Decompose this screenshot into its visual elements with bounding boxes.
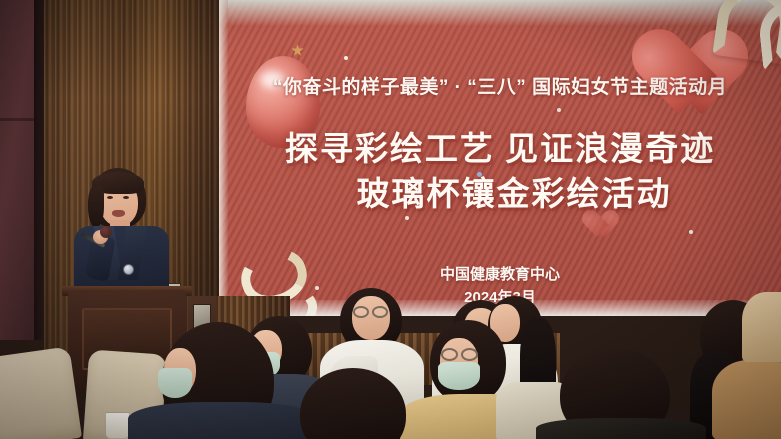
- attendee-face: [352, 296, 390, 340]
- banner-organization: 中国健康教育中心: [219, 264, 781, 287]
- left-wall-panel: [0, 0, 36, 340]
- microphone-icon: [100, 226, 112, 238]
- event-banner-screen: “你奋斗的样子最美” · “三八” 国际妇女节主题活动月 探寻彩绘工艺 见证浪漫…: [219, 0, 781, 316]
- glasses-icon: [353, 306, 369, 318]
- banner-left-frame: [219, 0, 228, 316]
- attendee-torso: [128, 402, 318, 439]
- chair-back-left: [0, 346, 82, 439]
- face-mask-icon: [158, 368, 192, 398]
- attendee-torso: [712, 360, 781, 439]
- glasses-icon: [461, 348, 478, 361]
- attendee-torso: [536, 418, 706, 439]
- deco-dot: [344, 56, 348, 60]
- speaker-eye-left: [107, 196, 113, 199]
- gold-star-icon: [291, 44, 304, 57]
- speaker-eye-right: [123, 196, 129, 199]
- conference-photo-scene: “你奋斗的样子最美” · “三八” 国际妇女节主题活动月 探寻彩绘工艺 见证浪漫…: [0, 0, 781, 439]
- banner-subtitle: “你奋斗的样子最美” · “三八” 国际妇女节主题活动月: [219, 72, 781, 99]
- attendee-torso: [742, 292, 781, 362]
- deco-dot: [557, 108, 561, 112]
- speaker-badge-pin: [123, 264, 134, 275]
- face-mask-icon: [438, 362, 480, 390]
- paper-cup: [105, 412, 130, 439]
- glasses-icon: [372, 306, 388, 318]
- speaker-mouth: [112, 210, 125, 217]
- speaker-hair-side: [88, 186, 104, 228]
- banner-title-line-1: 探寻彩绘工艺 见证浪漫奇迹: [219, 128, 781, 173]
- glasses-icon: [441, 348, 458, 361]
- banner-title-line-2: 玻璃杯镶金彩绘活动: [219, 173, 781, 218]
- deco-dot: [689, 230, 693, 234]
- banner-main-title: 探寻彩绘工艺 见证浪漫奇迹 玻璃杯镶金彩绘活动: [219, 128, 781, 218]
